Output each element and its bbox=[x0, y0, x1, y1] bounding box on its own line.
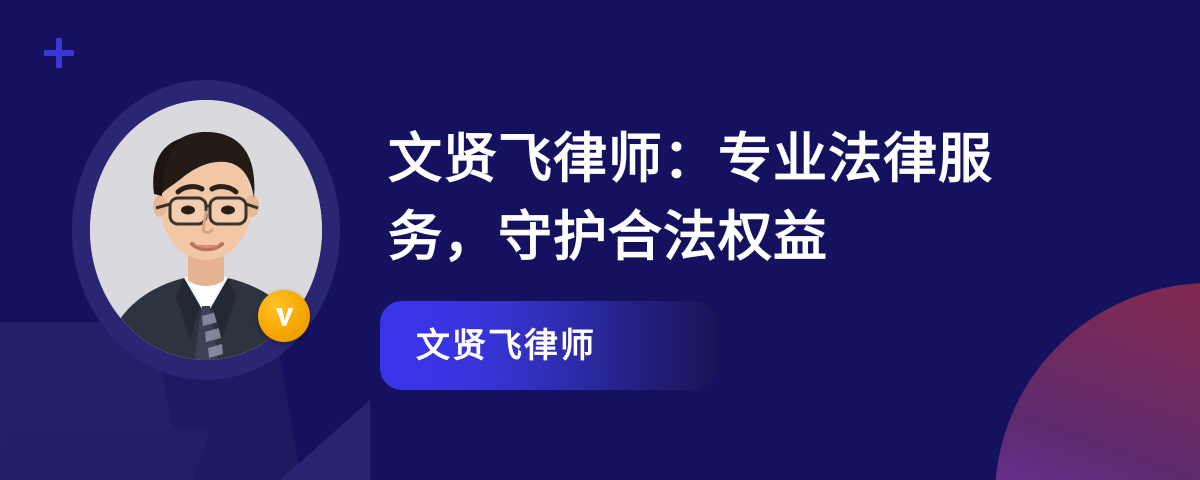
plus-icon bbox=[44, 38, 74, 68]
text-column: 文贤飞律师：专业法律服 务，守护合法权益 bbox=[388, 120, 1088, 276]
promo-banner: 文贤飞律师：专业法律服 务，守护合法权益 文贤飞律师 bbox=[0, 0, 1200, 480]
page-title: 文贤飞律师：专业法律服 务，守护合法权益 bbox=[388, 120, 1068, 276]
decorative-wedge-bottom bbox=[0, 430, 211, 480]
lawyer-name-button[interactable]: 文贤飞律师 bbox=[380, 301, 716, 390]
decorative-gradient-circle bbox=[995, 283, 1200, 480]
lawyer-name-label: 文贤飞律师 bbox=[416, 329, 596, 363]
verified-badge bbox=[258, 290, 310, 342]
avatar bbox=[72, 80, 340, 380]
